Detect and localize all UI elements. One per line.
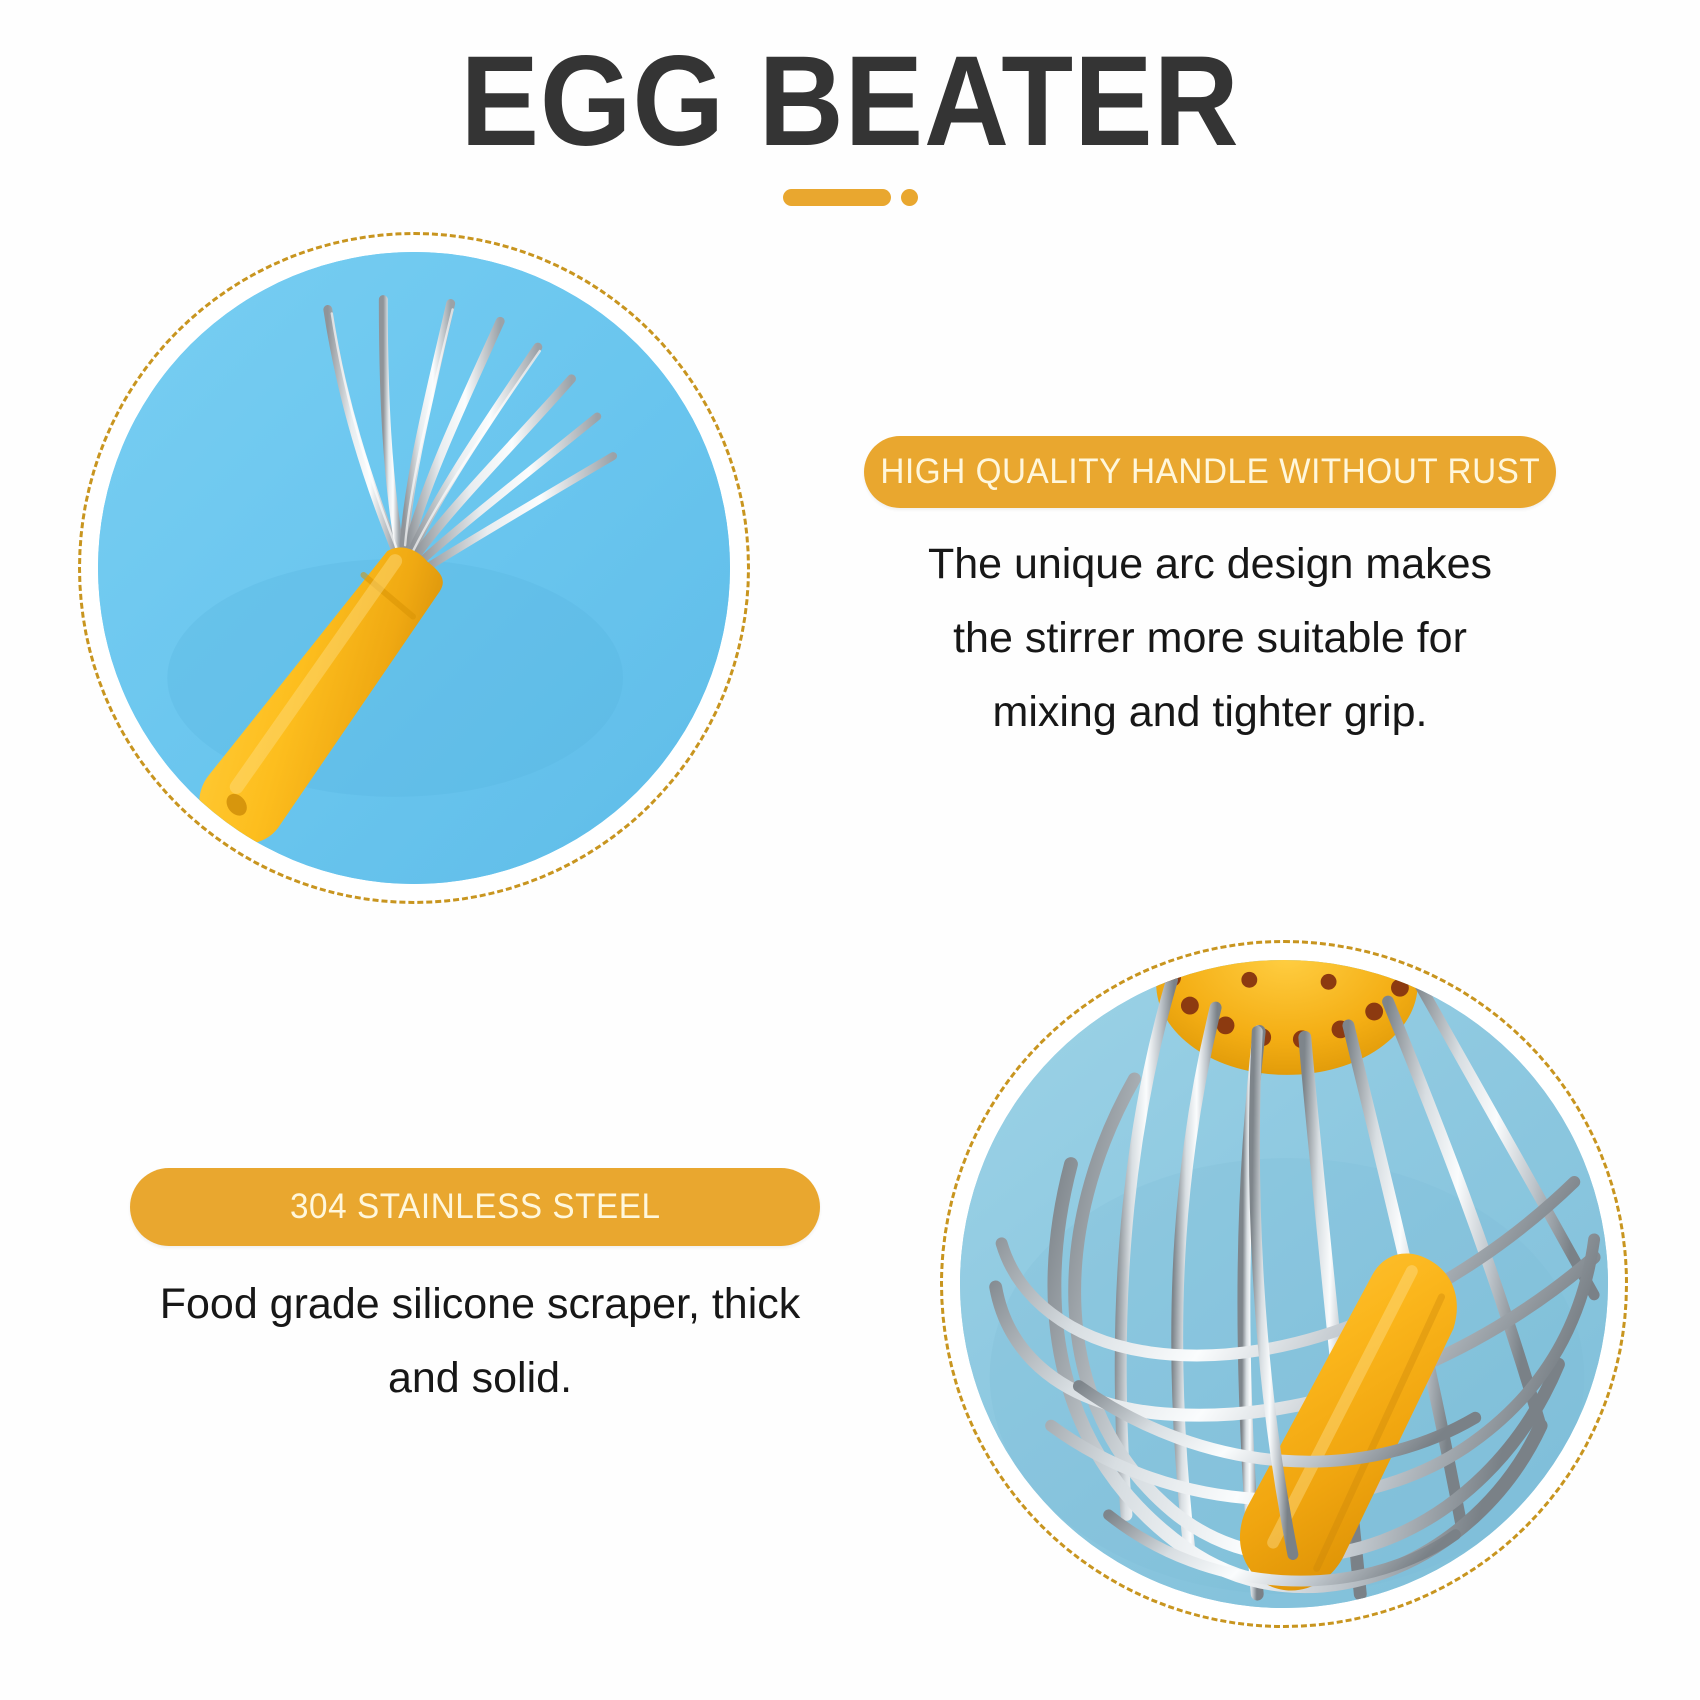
accent-dot-icon: [901, 189, 918, 206]
description-line: mixing and tighter grip.: [840, 676, 1580, 750]
description-line: The unique arc design makes: [840, 528, 1580, 602]
description-high-quality-handle: The unique arc design makes the stirrer …: [840, 528, 1580, 750]
whisk-ball-illustration: [960, 960, 1608, 1608]
banner-label-high-quality-handle: HIGH QUALITY HANDLE WITHOUT RUST: [880, 452, 1540, 492]
title-block: EGG BEATER: [0, 38, 1700, 206]
banner-high-quality-handle: HIGH QUALITY HANDLE WITHOUT RUST: [864, 436, 1556, 508]
description-line: and solid.: [110, 1342, 850, 1416]
photo-handle-image: [98, 252, 730, 884]
whisk-handle-illustration: [98, 252, 730, 884]
banner-stainless-steel: 304 STAINLESS STEEL: [130, 1168, 820, 1246]
accent-bar-icon: [783, 189, 891, 206]
description-stainless-steel: Food grade silicone scraper, thick and s…: [110, 1268, 850, 1416]
description-line: Food grade silicone scraper, thick: [110, 1268, 850, 1342]
photo-whisk-image: [960, 960, 1608, 1608]
photo-whisk-ball-closeup: [940, 940, 1628, 1628]
page-title: EGG BEATER: [68, 38, 1632, 166]
title-accent: [0, 188, 1700, 206]
banner-label-stainless-steel: 304 STAINLESS STEEL: [290, 1187, 661, 1227]
description-line: the stirrer more suitable for: [840, 602, 1580, 676]
photo-whisk-handle-closeup: [78, 232, 750, 904]
